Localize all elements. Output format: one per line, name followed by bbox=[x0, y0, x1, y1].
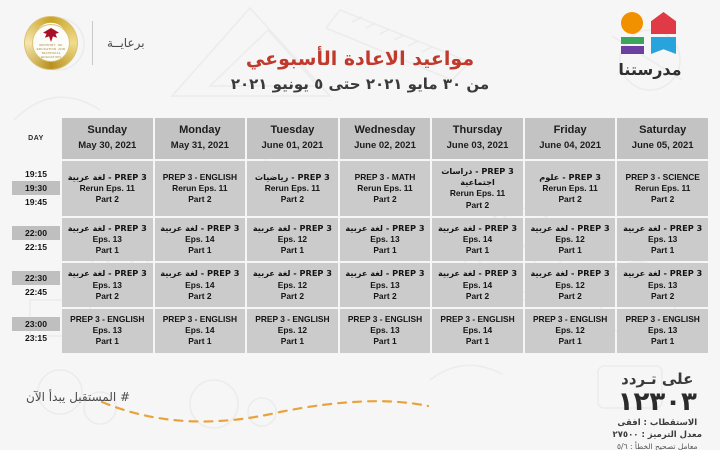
brand-name: مدرستنا bbox=[602, 60, 698, 79]
program-cell: PREP 3 - لغة عربيةEps. 13Part 2 bbox=[617, 263, 708, 307]
time-cell-0: 19:1519:3019:45 bbox=[12, 161, 60, 216]
frequency-info-block: على تـردد ١٢٣٠٣ الاستقطاب : افقى معدل ال… bbox=[613, 370, 702, 450]
program-title: PREP 3 - لغة عربية bbox=[619, 268, 706, 279]
program-part: Part 2 bbox=[64, 291, 151, 302]
program-cell: PREP 3 - لغة عربيةRerun Eps. 11Part 2 bbox=[62, 161, 153, 216]
program-cell: PREP 3 - لغة عربيةEps. 12Part 1 bbox=[247, 218, 338, 262]
program-episode: Rerun Eps. 11 bbox=[64, 183, 151, 194]
program-part: Part 2 bbox=[249, 291, 336, 302]
program-part: Part 2 bbox=[157, 291, 244, 302]
program-title: PREP 3 - لغة عربية bbox=[342, 223, 429, 234]
program-episode: Eps. 13 bbox=[342, 325, 429, 336]
program-part: Part 1 bbox=[527, 245, 614, 256]
program-episode: Eps. 14 bbox=[157, 280, 244, 291]
symbol-rate-line: معدل الترميز : ٢٧٥٠٠ bbox=[613, 430, 702, 440]
program-episode: Eps. 13 bbox=[342, 234, 429, 245]
logo-house-icon bbox=[651, 12, 676, 34]
program-title: PREP 3 - لغة عربية bbox=[527, 268, 614, 279]
program-episode: Eps. 14 bbox=[434, 234, 521, 245]
program-title: PREP 3 - لغة عربية bbox=[157, 223, 244, 234]
program-part: Part 1 bbox=[342, 245, 429, 256]
fec-line: معامل تصحيح الخطأ : ٥/٦ bbox=[613, 442, 702, 450]
table-head: DAY Sunday May 30, 2021 Monday May 31, 2… bbox=[12, 118, 708, 159]
program-episode: Eps. 12 bbox=[249, 325, 336, 336]
program-title: PREP 3 - ENGLISH bbox=[157, 172, 244, 183]
program-title: PREP 3 - SCIENCE bbox=[619, 172, 706, 183]
header-row: DAY Sunday May 30, 2021 Monday May 31, 2… bbox=[12, 118, 708, 159]
program-title: PREP 3 - لغة عربية bbox=[64, 172, 151, 183]
program-part: Part 2 bbox=[527, 291, 614, 302]
program-part: Part 1 bbox=[434, 336, 521, 347]
program-part: Part 2 bbox=[249, 194, 336, 205]
program-cell: PREP 3 - ENGLISHEps. 13Part 1 bbox=[617, 309, 708, 353]
program-part: Part 1 bbox=[527, 336, 614, 347]
program-episode: Eps. 13 bbox=[619, 325, 706, 336]
program-part: Part 1 bbox=[64, 336, 151, 347]
time-chip-active: 22:00 bbox=[12, 226, 60, 240]
program-part: Part 2 bbox=[342, 291, 429, 302]
program-episode: Eps. 12 bbox=[527, 234, 614, 245]
logo-bookmark-icon bbox=[651, 37, 676, 54]
program-title: PREP 3 - علوم bbox=[527, 172, 614, 183]
day-name: Wednesday bbox=[342, 124, 429, 137]
time-chip: 19:45 bbox=[12, 195, 60, 209]
program-title: PREP 3 - لغة عربية bbox=[64, 223, 151, 234]
program-part: Part 2 bbox=[434, 200, 521, 211]
day-name: Sunday bbox=[64, 124, 151, 137]
day-name: Thursday bbox=[434, 124, 521, 137]
poster-footer: # المستقبل يبدأ الآن على تـردد ١٢٣٠٣ الا… bbox=[0, 368, 720, 450]
time-chip-active: 19:30 bbox=[12, 181, 60, 195]
day-header-6: Saturday June 05, 2021 bbox=[617, 118, 708, 159]
day-date: May 31, 2021 bbox=[157, 139, 244, 152]
day-date: May 30, 2021 bbox=[64, 139, 151, 152]
program-episode: Eps. 14 bbox=[434, 280, 521, 291]
program-part: Part 1 bbox=[64, 245, 151, 256]
program-episode: Eps. 13 bbox=[342, 280, 429, 291]
program-cell: PREP 3 - دراسات اجتماعيةRerun Eps. 11Par… bbox=[432, 161, 523, 216]
time-stack: 23:0023:15 bbox=[12, 317, 60, 345]
time-stack: 22:3022:45 bbox=[12, 271, 60, 299]
program-title: PREP 3 - لغة عربية bbox=[434, 268, 521, 279]
frequency-number: ١٢٣٠٣ bbox=[613, 388, 702, 416]
program-cell: PREP 3 - لغة عربيةEps. 13Part 2 bbox=[340, 263, 431, 307]
program-part: Part 1 bbox=[342, 336, 429, 347]
day-date: June 03, 2021 bbox=[434, 139, 521, 152]
program-cell: PREP 3 - علومRerun Eps. 11Part 2 bbox=[525, 161, 616, 216]
day-date: June 01, 2021 bbox=[249, 139, 336, 152]
time-cell-3: 23:0023:15 bbox=[12, 309, 60, 353]
day-header-1: Monday May 31, 2021 bbox=[155, 118, 246, 159]
program-part: Part 1 bbox=[434, 245, 521, 256]
program-cell: PREP 3 - لغة عربيةEps. 12Part 2 bbox=[247, 263, 338, 307]
program-episode: Eps. 13 bbox=[619, 234, 706, 245]
madrasatna-logo: مدرستنا bbox=[602, 12, 698, 84]
program-cell: PREP 3 - لغة عربيةEps. 13Part 2 bbox=[62, 263, 153, 307]
logo-purple-bar-icon bbox=[621, 46, 644, 54]
program-cell: PREP 3 - لغة عربيةEps. 14Part 2 bbox=[155, 263, 246, 307]
program-cell: PREP 3 - ENGLISHEps. 13Part 1 bbox=[62, 309, 153, 353]
time-chip-active: 22:30 bbox=[12, 271, 60, 285]
program-part: Part 2 bbox=[619, 291, 706, 302]
dashed-path-decoration bbox=[100, 392, 430, 426]
program-cell: PREP 3 - لغة عربيةEps. 12Part 2 bbox=[525, 263, 616, 307]
day-date: June 05, 2021 bbox=[619, 139, 706, 152]
program-title: PREP 3 - لغة عربية bbox=[64, 268, 151, 279]
program-part: Part 2 bbox=[342, 194, 429, 205]
program-title: PREP 3 - ENGLISH bbox=[157, 314, 244, 325]
program-cell: PREP 3 - لغة عربيةEps. 14Part 2 bbox=[432, 263, 523, 307]
program-episode: Eps. 14 bbox=[157, 325, 244, 336]
program-episode: Eps. 13 bbox=[619, 280, 706, 291]
program-part: Part 1 bbox=[619, 245, 706, 256]
program-cell: PREP 3 - رياضياتRerun Eps. 11Part 2 bbox=[247, 161, 338, 216]
program-part: Part 2 bbox=[619, 194, 706, 205]
program-cell: PREP 3 - لغة عربيةEps. 14Part 1 bbox=[155, 218, 246, 262]
program-title: PREP 3 - ENGLISH bbox=[64, 314, 151, 325]
program-cell: PREP 3 - ENGLISHRerun Eps. 11Part 2 bbox=[155, 161, 246, 216]
program-title: PREP 3 - لغة عربية bbox=[527, 223, 614, 234]
program-part: Part 1 bbox=[157, 336, 244, 347]
program-episode: Eps. 12 bbox=[249, 280, 336, 291]
eagle-emblem-icon bbox=[43, 28, 59, 42]
time-cell-1: 22:0022:15 bbox=[12, 218, 60, 262]
program-cell: PREP 3 - لغة عربيةEps. 13Part 1 bbox=[617, 218, 708, 262]
program-part: Part 2 bbox=[434, 291, 521, 302]
frequency-label: على تـردد bbox=[613, 370, 702, 388]
schedule-table: DAY Sunday May 30, 2021 Monday May 31, 2… bbox=[10, 116, 710, 355]
program-cell: PREP 3 - ENGLISHEps. 13Part 1 bbox=[340, 309, 431, 353]
program-title: PREP 3 - لغة عربية bbox=[434, 223, 521, 234]
time-chip: 19:15 bbox=[12, 167, 60, 181]
day-name: Monday bbox=[157, 124, 244, 137]
program-part: Part 1 bbox=[619, 336, 706, 347]
program-title: PREP 3 - لغة عربية bbox=[157, 268, 244, 279]
program-title: PREP 3 - لغة عربية bbox=[342, 268, 429, 279]
program-part: Part 1 bbox=[157, 245, 244, 256]
program-episode: Rerun Eps. 11 bbox=[249, 183, 336, 194]
program-cell: PREP 3 - ENGLISHEps. 12Part 1 bbox=[525, 309, 616, 353]
program-cell: PREP 3 - ENGLISHEps. 14Part 1 bbox=[432, 309, 523, 353]
program-part: Part 1 bbox=[249, 245, 336, 256]
program-cell: PREP 3 - ENGLISHEps. 12Part 1 bbox=[247, 309, 338, 353]
program-cell: PREP 3 - ENGLISHEps. 14Part 1 bbox=[155, 309, 246, 353]
day-date: June 02, 2021 bbox=[342, 139, 429, 152]
program-episode: Eps. 13 bbox=[64, 234, 151, 245]
program-title: PREP 3 - لغة عربية bbox=[619, 223, 706, 234]
program-episode: Eps. 14 bbox=[157, 234, 244, 245]
program-episode: Rerun Eps. 11 bbox=[619, 183, 706, 194]
schedule-poster: MINISTRY OF EDUCATION AND TECHNICAL EDUC… bbox=[0, 0, 720, 450]
day-name: Tuesday bbox=[249, 124, 336, 137]
day-name: Friday bbox=[527, 124, 614, 137]
day-header-5: Friday June 04, 2021 bbox=[525, 118, 616, 159]
time-stack: 19:1519:3019:45 bbox=[12, 167, 60, 209]
program-title: PREP 3 - لغة عربية bbox=[249, 223, 336, 234]
program-episode: Eps. 14 bbox=[434, 325, 521, 336]
table-row: 22:3022:45PREP 3 - لغة عربيةEps. 13Part … bbox=[12, 263, 708, 307]
program-title: PREP 3 - MATH bbox=[342, 172, 429, 183]
program-title: PREP 3 - ENGLISH bbox=[434, 314, 521, 325]
program-episode: Eps. 12 bbox=[527, 280, 614, 291]
program-cell: PREP 3 - لغة عربيةEps. 13Part 1 bbox=[340, 218, 431, 262]
logo-circle-icon bbox=[621, 12, 643, 34]
program-title: PREP 3 - ENGLISH bbox=[527, 314, 614, 325]
day-date: June 04, 2021 bbox=[527, 139, 614, 152]
day-header-2: Tuesday June 01, 2021 bbox=[247, 118, 338, 159]
program-episode: Eps. 13 bbox=[64, 325, 151, 336]
day-column-header: DAY bbox=[12, 118, 60, 159]
table-row: 19:1519:3019:45PREP 3 - لغة عربيةRerun E… bbox=[12, 161, 708, 216]
time-chip: 22:45 bbox=[12, 285, 60, 299]
program-part: Part 2 bbox=[157, 194, 244, 205]
program-title: PREP 3 - ENGLISH bbox=[619, 314, 706, 325]
program-part: Part 1 bbox=[249, 336, 336, 347]
program-cell: PREP 3 - لغة عربيةEps. 13Part 1 bbox=[62, 218, 153, 262]
program-cell: PREP 3 - MATHRerun Eps. 11Part 2 bbox=[340, 161, 431, 216]
time-chip-active: 23:00 bbox=[12, 317, 60, 331]
day-header-0: Sunday May 30, 2021 bbox=[62, 118, 153, 159]
day-header-4: Thursday June 03, 2021 bbox=[432, 118, 523, 159]
program-part: Part 2 bbox=[527, 194, 614, 205]
time-cell-2: 22:3022:45 bbox=[12, 263, 60, 307]
poster-header: MINISTRY OF EDUCATION AND TECHNICAL EDUC… bbox=[0, 0, 720, 112]
program-episode: Rerun Eps. 11 bbox=[527, 183, 614, 194]
time-chip: 23:15 bbox=[12, 331, 60, 345]
table-row: 22:0022:15PREP 3 - لغة عربيةEps. 13Part … bbox=[12, 218, 708, 262]
program-title: PREP 3 - ENGLISH bbox=[342, 314, 429, 325]
program-title: PREP 3 - رياضيات bbox=[249, 172, 336, 183]
program-cell: PREP 3 - SCIENCERerun Eps. 11Part 2 bbox=[617, 161, 708, 216]
program-episode: Eps. 12 bbox=[249, 234, 336, 245]
table-row: 23:0023:15PREP 3 - ENGLISHEps. 13Part 1P… bbox=[12, 309, 708, 353]
program-episode: Rerun Eps. 11 bbox=[434, 188, 521, 199]
polarization-line: الاستقطاب : افقى bbox=[613, 418, 702, 428]
program-cell: PREP 3 - لغة عربيةEps. 14Part 1 bbox=[432, 218, 523, 262]
program-title: PREP 3 - دراسات اجتماعية bbox=[434, 166, 521, 188]
program-episode: Rerun Eps. 11 bbox=[157, 183, 244, 194]
time-chip: 22:15 bbox=[12, 240, 60, 254]
logo-green-bar-icon bbox=[621, 37, 644, 44]
program-episode: Eps. 12 bbox=[527, 325, 614, 336]
program-title: PREP 3 - ENGLISH bbox=[249, 314, 336, 325]
program-title: PREP 3 - لغة عربية bbox=[249, 268, 336, 279]
logo-shapes bbox=[619, 12, 681, 56]
program-cell: PREP 3 - لغة عربيةEps. 12Part 1 bbox=[525, 218, 616, 262]
program-episode: Eps. 13 bbox=[64, 280, 151, 291]
program-part: Part 2 bbox=[64, 194, 151, 205]
program-episode: Rerun Eps. 11 bbox=[342, 183, 429, 194]
time-stack: 22:0022:15 bbox=[12, 226, 60, 254]
day-name: Saturday bbox=[619, 124, 706, 137]
day-header-3: Wednesday June 02, 2021 bbox=[340, 118, 431, 159]
table-body: 19:1519:3019:45PREP 3 - لغة عربيةRerun E… bbox=[12, 161, 708, 353]
